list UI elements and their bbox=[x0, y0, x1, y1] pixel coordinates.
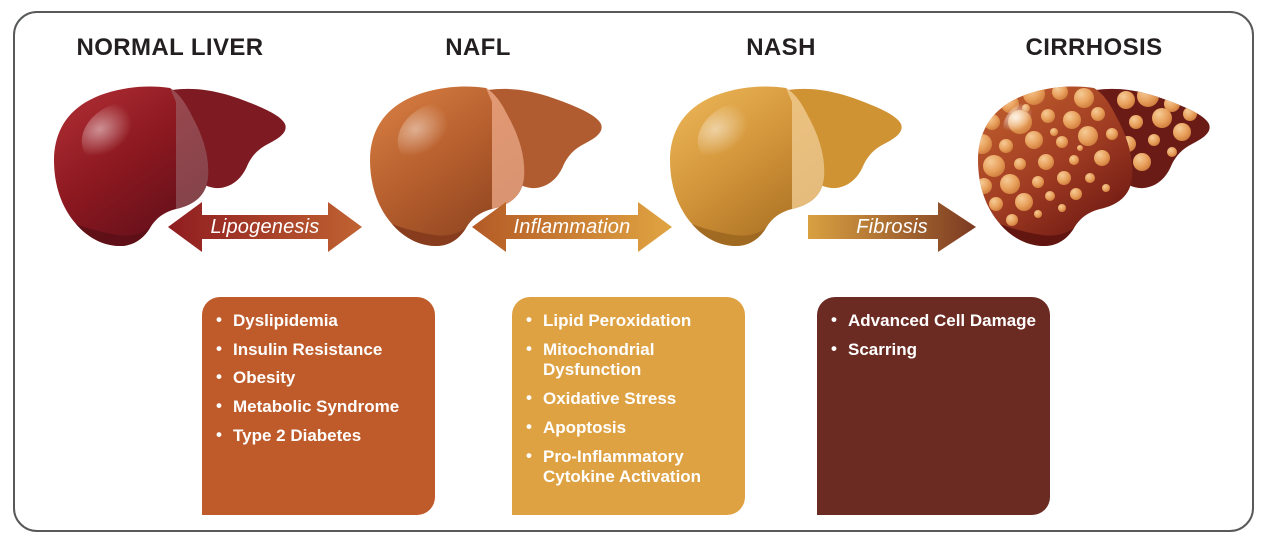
list-item: Scarring bbox=[831, 340, 1038, 361]
fact-box-nafl-risk-factors: Dyslipidemia Insulin Resistance Obesity … bbox=[202, 297, 435, 515]
stage-title-cirrhosis: CIRRHOSIS bbox=[1026, 34, 1163, 62]
list-item: Dyslipidemia bbox=[216, 311, 423, 332]
list-item: Oxidative Stress bbox=[526, 389, 733, 410]
stage-title-nash: NASH bbox=[746, 34, 816, 62]
list-item: Advanced Cell Damage bbox=[831, 311, 1038, 332]
fact-box-cirrhosis-features: Advanced Cell Damage Scarring bbox=[817, 297, 1050, 515]
arrow-lipogenesis: Lipogenesis bbox=[168, 200, 362, 254]
arrow-inflammation: Inflammation bbox=[472, 200, 672, 254]
arrow-fibrosis: Fibrosis bbox=[808, 200, 976, 254]
list-item: Insulin Resistance bbox=[216, 340, 423, 361]
fact-box-nash-mechanisms: Lipid Peroxidation Mitochondrial Dysfunc… bbox=[512, 297, 745, 515]
list-item: Apoptosis bbox=[526, 418, 733, 439]
fact-list-cirrhosis-features: Advanced Cell Damage Scarring bbox=[831, 311, 1038, 360]
list-item: Type 2 Diabetes bbox=[216, 426, 423, 447]
fact-list-nash-mechanisms: Lipid Peroxidation Mitochondrial Dysfunc… bbox=[526, 311, 733, 488]
list-item: Mitochondrial Dysfunction bbox=[526, 340, 733, 381]
list-item: Lipid Peroxidation bbox=[526, 311, 733, 332]
diagram-canvas: NORMAL LIVER NAFL NASH CIRRHOSIS bbox=[0, 0, 1269, 545]
stage-title-nafl: NAFL bbox=[445, 34, 511, 62]
fact-list-nafl-risk-factors: Dyslipidemia Insulin Resistance Obesity … bbox=[216, 311, 423, 447]
list-item: Pro-Inflammatory Cytokine Activation bbox=[526, 447, 733, 488]
stage-title-normal-liver: NORMAL LIVER bbox=[76, 34, 263, 62]
list-item: Metabolic Syndrome bbox=[216, 397, 423, 418]
liver-illustration-cirrhosis bbox=[976, 78, 1212, 264]
list-item: Obesity bbox=[216, 368, 423, 389]
